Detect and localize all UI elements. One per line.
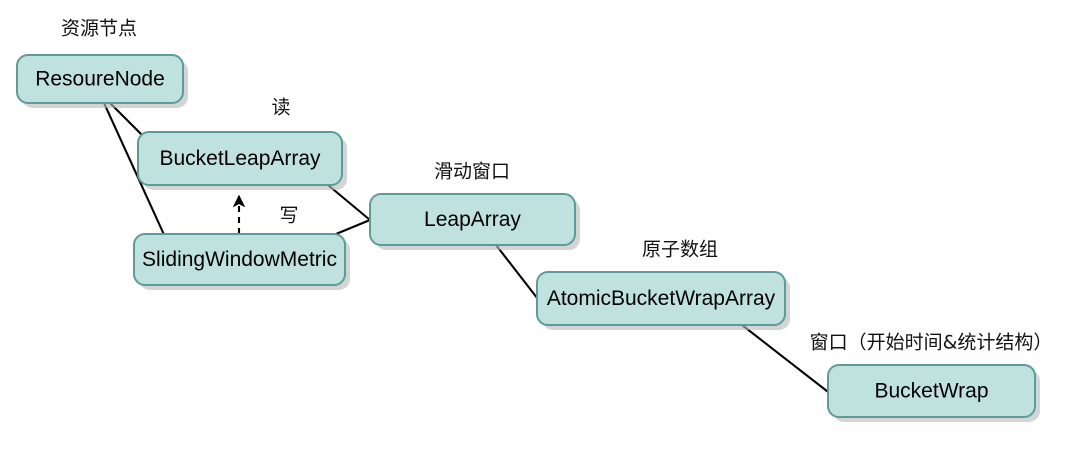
node-bucket-wrap[interactable]: BucketWrap xyxy=(828,365,1040,422)
edge-bucketleaparray-leaparray xyxy=(328,185,370,220)
edge-label-write: 写 xyxy=(279,205,298,227)
node-label: SlidingWindowMetric xyxy=(142,248,337,271)
annotation-bucket-leap-array: 读 xyxy=(271,97,290,119)
node-atomic-bucket-wrap-array[interactable]: AtomicBucketWrapArray xyxy=(537,272,790,330)
edge-leaparray-atomicbucketwraparray xyxy=(496,245,541,303)
annotation-bucket-wrap: 窗口（开始时间&统计结构） xyxy=(810,332,1053,354)
node-label: LeapArray xyxy=(424,208,521,231)
node-resource-node[interactable]: ResoureNode xyxy=(17,55,188,108)
node-label: BucketLeapArray xyxy=(159,147,321,170)
node-label: AtomicBucketWrapArray xyxy=(547,287,776,310)
annotation-leap-array: 滑动窗口 xyxy=(434,161,510,183)
nodes-layer: ResoureNodeBucketLeapArraySlidingWindowM… xyxy=(17,55,1040,422)
node-sliding-window-metric[interactable]: SlidingWindowMetric xyxy=(134,234,350,290)
annotation-resource-node: 资源节点 xyxy=(61,18,137,40)
node-label: BucketWrap xyxy=(875,380,989,403)
node-label: ResoureNode xyxy=(35,68,165,91)
diagram-svg: ResoureNodeBucketLeapArraySlidingWindowM… xyxy=(0,0,1080,459)
node-leap-array[interactable]: LeapArray xyxy=(370,194,580,250)
diagram-canvas: ResoureNodeBucketLeapArraySlidingWindowM… xyxy=(0,0,1080,459)
annotation-atomic-bucket-wrap-array: 原子数组 xyxy=(642,239,718,261)
edge-slidingwindowmetric-leaparray xyxy=(336,220,370,234)
node-bucket-leap-array[interactable]: BucketLeapArray xyxy=(138,132,347,190)
